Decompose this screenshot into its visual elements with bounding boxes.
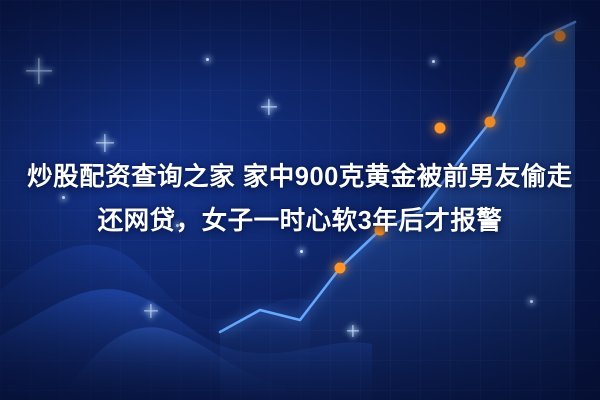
poster-canvas: 炒股配资查询之家 家中900克黄金被前男友偷走 还网贷，女子一时心软3年后才报警 xyxy=(0,0,600,400)
headline-block: 炒股配资查询之家 家中900克黄金被前男友偷走 还网贷，女子一时心软3年后才报警 xyxy=(0,0,600,400)
headline-line-1: 炒股配资查询之家 家中900克黄金被前男友偷走 xyxy=(27,161,573,195)
headline-line-2: 还网贷，女子一时心软3年后才报警 xyxy=(98,205,503,239)
